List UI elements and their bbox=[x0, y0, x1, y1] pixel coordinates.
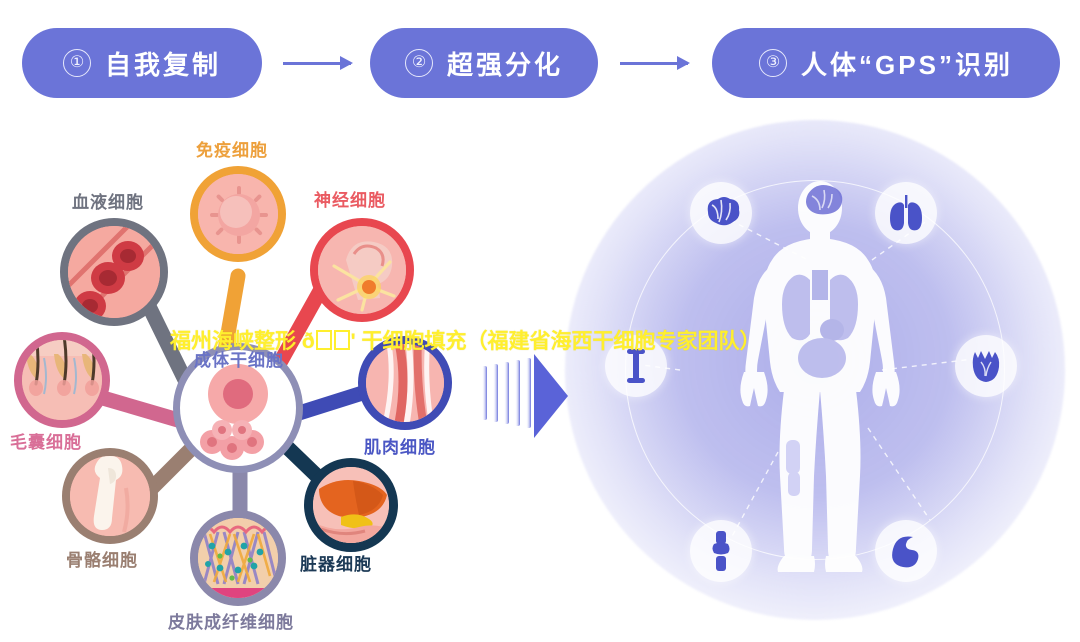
step-pill-2: ② 超强分化 bbox=[370, 28, 598, 98]
bone-cell-icon bbox=[62, 448, 158, 544]
knee-joint-icon bbox=[690, 520, 752, 582]
lungs-icon bbox=[875, 182, 937, 244]
organ-cell-icon bbox=[304, 458, 398, 552]
cell-label-organ: 脏器细胞 bbox=[300, 550, 372, 575]
cell-label-hair-follicle: 毛囊细胞 bbox=[10, 428, 82, 453]
cell-label-immune: 免疫细胞 bbox=[196, 136, 268, 161]
step-number-3: ③ bbox=[759, 49, 787, 77]
step-number-1: ① bbox=[63, 49, 91, 77]
cell-label-muscle: 肌肉细胞 bbox=[364, 433, 436, 458]
hair-follicle-cell-icon bbox=[14, 332, 110, 428]
step-pill-3: ③ 人体“GPS”识别 bbox=[712, 28, 1060, 98]
stem-cell-differentiation-cluster: 血液细胞 免疫细胞 bbox=[0, 128, 490, 642]
infographic-canvas: ① 自我复制 ② 超强分化 ③ 人体“GPS”识别 bbox=[0, 0, 1080, 642]
step-label-1: 自我复制 bbox=[105, 45, 221, 82]
immune-cell-icon bbox=[190, 166, 286, 262]
cell-label-bone: 骨骼细胞 bbox=[66, 546, 138, 571]
step-label-3: 人体“GPS”识别 bbox=[801, 45, 1013, 82]
missing-glyph-box-2 bbox=[334, 330, 350, 350]
step-arrow-1 bbox=[283, 62, 351, 65]
kidney-icon bbox=[875, 520, 937, 582]
overlay-mojibake-prefix: ð bbox=[302, 330, 315, 353]
brain-icon bbox=[690, 182, 752, 244]
cell-label-skin-fibroblast: 皮肤成纤维细胞 bbox=[168, 608, 294, 633]
step-arrow-2 bbox=[620, 62, 688, 65]
nerve-cell-icon bbox=[310, 218, 414, 322]
overlay-text-after: 干细胞填充（福建省海西干细胞专家团队） bbox=[356, 330, 761, 353]
overlay-text-before: 福州海峡整形 bbox=[170, 330, 302, 353]
human-body-target-panel bbox=[530, 120, 1080, 642]
process-steps-bar: ① 自我复制 ② 超强分化 ③ 人体“GPS”识别 bbox=[0, 0, 1080, 130]
step-number-2: ② bbox=[405, 49, 433, 77]
missing-glyph-box-1 bbox=[316, 330, 332, 350]
step-label-2: 超强分化 bbox=[447, 45, 563, 82]
heart-icon bbox=[955, 335, 1017, 397]
right-arrow-icon bbox=[478, 352, 570, 440]
blood-cell-icon bbox=[60, 218, 168, 326]
skin-fibroblast-cell-icon bbox=[190, 510, 286, 606]
overlay-watermark-text: 福州海峡整形 ð' 干细胞填充（福建省海西干细胞专家团队） bbox=[170, 325, 910, 355]
cell-label-nerve: 神经细胞 bbox=[314, 186, 386, 211]
cell-label-blood: 血液细胞 bbox=[72, 188, 144, 213]
step-pill-1: ① 自我复制 bbox=[22, 28, 262, 98]
